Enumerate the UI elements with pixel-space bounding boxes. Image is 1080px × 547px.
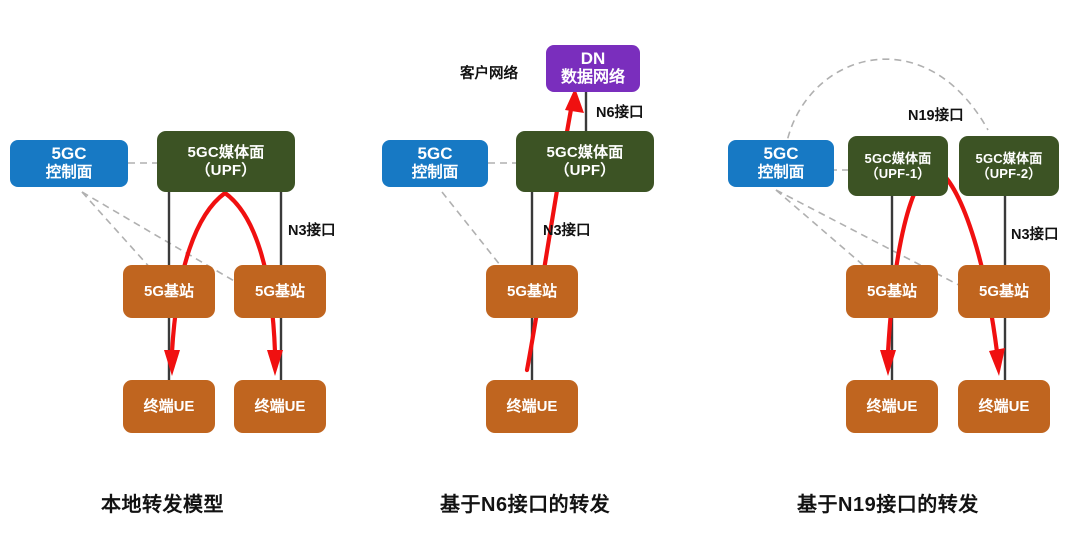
- node-ue-right[interactable]: 终端UE: [234, 380, 326, 433]
- node-upf-1[interactable]: 5GC媒体面 （UPF-1）: [848, 136, 948, 196]
- node-label-line1: DN: [581, 49, 606, 69]
- node-control-plane[interactable]: 5GC 控制面: [382, 140, 488, 187]
- node-ue-right[interactable]: 终端UE: [958, 380, 1050, 433]
- node-label: 终端UE: [507, 398, 558, 416]
- node-label-line2: （UPF）: [554, 162, 615, 180]
- node-label: 5G基站: [979, 283, 1029, 301]
- label-customer-network: 客户网络: [460, 62, 518, 83]
- node-label-line2: 数据网络: [561, 69, 625, 88]
- node-label: 终端UE: [867, 398, 918, 416]
- node-label-line1: 5GC: [764, 144, 799, 164]
- node-label-line1: 5GC媒体面: [546, 144, 623, 162]
- panel-caption: 本地转发模型: [101, 488, 224, 517]
- node-label: 5G基站: [144, 283, 194, 301]
- node-gnb-right[interactable]: 5G基站: [234, 265, 326, 318]
- node-control-plane[interactable]: 5GC 控制面: [10, 140, 128, 187]
- node-control-plane[interactable]: 5GC 控制面: [728, 140, 834, 187]
- node-label-line2: 控制面: [412, 164, 459, 182]
- node-label: 5G基站: [507, 283, 557, 301]
- panel-caption: 基于N6接口的转发: [440, 488, 610, 517]
- node-upf[interactable]: 5GC媒体面 （UPF）: [157, 131, 295, 192]
- node-gnb-left[interactable]: 5G基站: [123, 265, 215, 318]
- label-n19-interface: N19接口: [908, 104, 964, 125]
- node-data-network[interactable]: DN 数据网络: [546, 45, 640, 92]
- node-label-line1: 5GC: [418, 144, 453, 164]
- node-ue[interactable]: 终端UE: [486, 380, 578, 433]
- node-upf[interactable]: 5GC媒体面 （UPF）: [516, 131, 654, 192]
- node-label-line2: 控制面: [758, 164, 805, 182]
- node-label-line2: （UPF-1）: [866, 166, 931, 181]
- node-label-line1: 5GC: [52, 144, 87, 164]
- node-label: 5G基站: [255, 283, 305, 301]
- label-n3-interface: N3接口: [543, 219, 591, 240]
- panel-local-forwarding: 5GC 控制面 5GC媒体面 （UPF） 5G基站 5G基站 终端UE 终端UE…: [0, 0, 360, 547]
- node-gnb-left[interactable]: 5G基站: [846, 265, 938, 318]
- node-label: 终端UE: [255, 398, 306, 416]
- panel-caption: 基于N19接口的转发: [797, 488, 979, 517]
- node-label-line1: 5GC媒体面: [187, 144, 264, 162]
- node-upf-2[interactable]: 5GC媒体面 （UPF-2）: [959, 136, 1059, 196]
- node-label: 终端UE: [979, 398, 1030, 416]
- node-gnb[interactable]: 5G基站: [486, 265, 578, 318]
- node-label-line1: 5GC媒体面: [865, 151, 932, 166]
- node-gnb-right[interactable]: 5G基站: [958, 265, 1050, 318]
- node-label-line2: 控制面: [46, 164, 93, 182]
- node-label-line1: 5GC媒体面: [976, 151, 1043, 166]
- node-label-line2: （UPF-2）: [977, 166, 1042, 181]
- node-label: 终端UE: [144, 398, 195, 416]
- panel-n19-forwarding: 5GC 控制面 5GC媒体面 （UPF-1） 5GC媒体面 （UPF-2） 5G…: [720, 0, 1080, 547]
- node-ue-left[interactable]: 终端UE: [846, 380, 938, 433]
- label-n3-interface: N3接口: [1011, 223, 1059, 244]
- node-label-line2: （UPF）: [195, 162, 256, 180]
- diagram-canvas: 5GC 控制面 5GC媒体面 （UPF） 5G基站 5G基站 终端UE 终端UE…: [0, 0, 1080, 547]
- label-n3-interface: N3接口: [288, 219, 336, 240]
- label-n6-interface: N6接口: [596, 101, 644, 122]
- node-ue-left[interactable]: 终端UE: [123, 380, 215, 433]
- panel-n6-forwarding: DN 数据网络 5GC 控制面 5GC媒体面 （UPF） 5G基站 终端UE 客…: [360, 0, 720, 547]
- node-label: 5G基站: [867, 283, 917, 301]
